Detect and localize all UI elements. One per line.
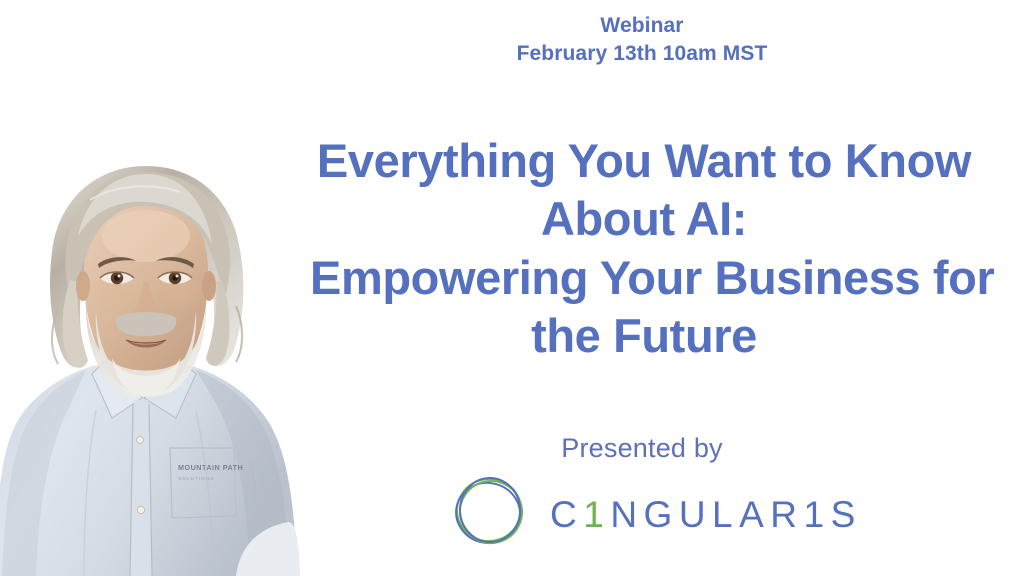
wordmark-part-ngular: NGULAR [610,494,803,535]
wordmark-part-s: S [831,494,862,535]
title-line-3: Empowering Your Business for [310,249,978,307]
wordmark-part-c: C [550,494,583,535]
page-title: Everything You Want to Know About AI: Em… [310,132,978,365]
wordmark-part-one-green: 1 [583,494,610,535]
webinar-datetime: February 13th 10am MST [392,40,892,68]
presented-by-label: Presented by [442,433,842,464]
shirt-logo-line1: MOUNTAIN PATH [178,463,243,472]
cingularis-wordmark: C1NGULAR1S [550,492,862,533]
webinar-label: Webinar [392,12,892,40]
webinar-header: Webinar February 13th 10am MST [392,12,892,67]
shirt-logo-line2: SOLUTIONS [178,476,214,481]
presenter-portrait-photo: MOUNTAIN PATH SOLUTIONS [0,160,300,576]
title-line-1: Everything You Want to Know [310,132,978,190]
webinar-promo-slide: MOUNTAIN PATH SOLUTIONS [0,0,1024,576]
title-line-4: the Future [310,307,978,365]
cingularis-rings-icon [448,470,532,554]
title-line-2: About AI: [310,190,978,248]
wordmark-part-one-blue: 1 [804,494,831,535]
cingularis-logo-lockup: C1NGULAR1S [448,472,848,552]
